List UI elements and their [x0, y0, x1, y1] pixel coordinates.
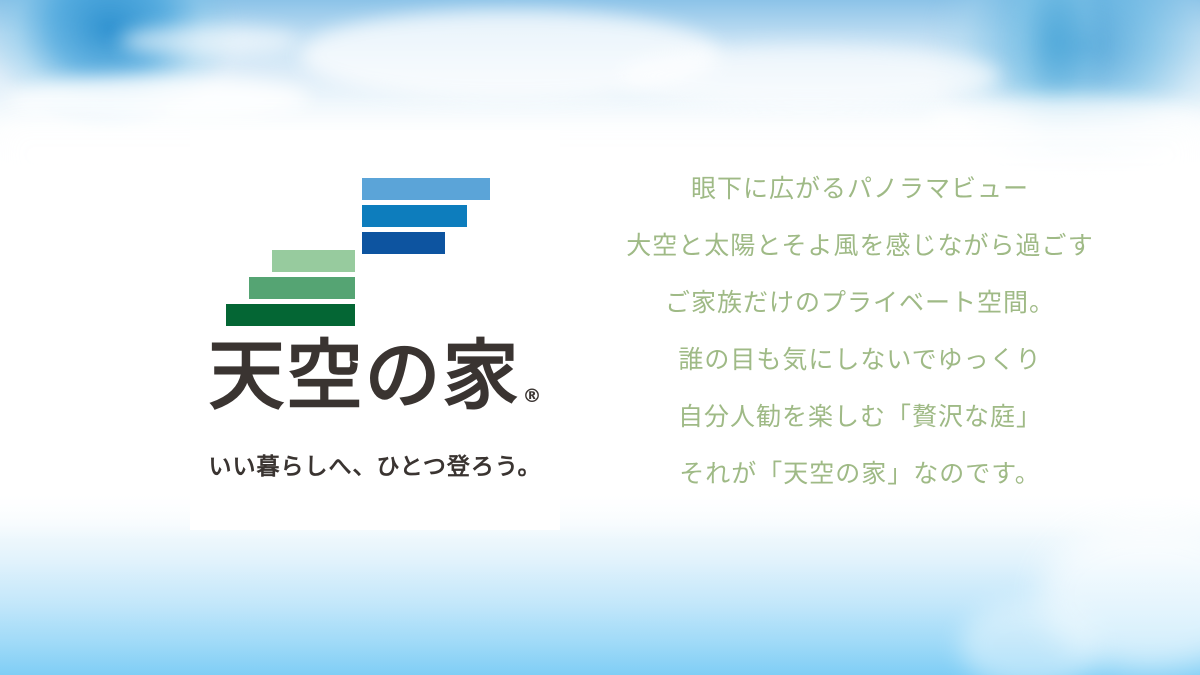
logo-bar-blue-mid: [362, 205, 467, 227]
logo-bar-green-light: [272, 250, 355, 272]
logo-title: 天空の家®: [190, 338, 560, 414]
logo-bar-green-mid: [249, 277, 355, 299]
logo-bar-blue-dark: [362, 232, 445, 254]
cloud-wisp: [120, 26, 300, 56]
copy-line-5: 自分人勧を楽しむ「贅沢な庭」: [600, 388, 1120, 445]
copy-line-3: ご家族だけのプライベート空間。: [600, 274, 1120, 331]
marketing-copy-block: 眼下に広がるパノラマビュー大空と太陽とそよ風を感じながら過ごすご家族だけのプライ…: [600, 160, 1120, 502]
copy-line-1: 眼下に広がるパノラマビュー: [600, 160, 1120, 217]
logo-mark-staircase: [190, 130, 560, 300]
copy-line-2: 大空と太陽とそよ風を感じながら過ごす: [600, 217, 1120, 274]
logo-panel: 天空の家® いい暮らしへ、ひとつ登ろう。: [190, 130, 560, 530]
registered-trademark-icon: ®: [523, 385, 542, 407]
logo-bar-blue-light: [362, 178, 490, 200]
horizon-glow: [0, 545, 1200, 675]
logo-title-text: 天空の家: [209, 331, 521, 420]
logo-bar-green-dark: [226, 304, 355, 326]
cloud-wisp: [10, 76, 310, 122]
copy-line-6: それが「天空の家」なのです。: [600, 445, 1120, 502]
logo-tagline: いい暮らしへ、ひとつ登ろう。: [190, 454, 560, 482]
slide-canvas: 天空の家® いい暮らしへ、ひとつ登ろう。 眼下に広がるパノラマビュー大空と太陽と…: [0, 0, 1200, 675]
cloud-wisp: [620, 44, 1000, 108]
copy-line-4: 誰の目も気にしないでゆっくり: [600, 331, 1120, 388]
